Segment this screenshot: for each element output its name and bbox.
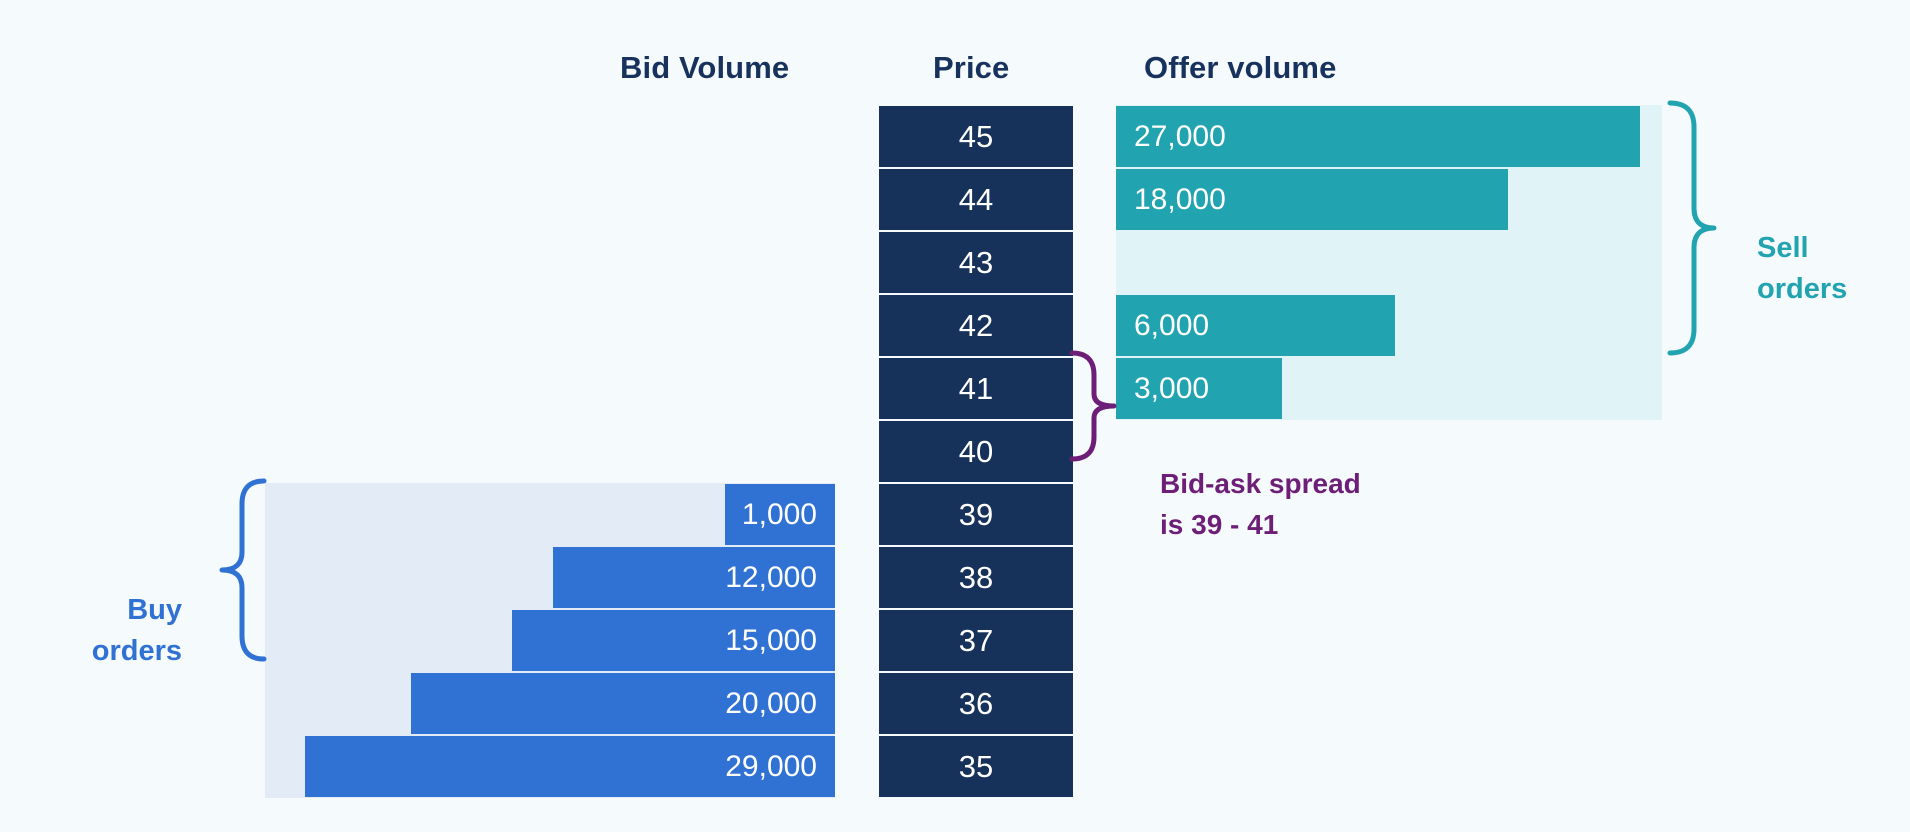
buy-orders-label: Buy orders [52,590,182,672]
sell-orders-brace-icon [1668,100,1718,356]
column-header-price: Price [933,50,1009,86]
order-book-row: 413,000 [0,357,1910,420]
price-cell: 39 [879,484,1073,545]
price-cell: 35 [879,736,1073,797]
buy-orders-brace-icon [218,478,268,662]
bid-volume-bar: 1,000 [725,484,835,545]
column-header-bid-volume: Bid Volume [620,50,789,86]
order-book-row: 12,00038 [0,546,1910,609]
order-book-diagram: Bid Volume Price Offer volume 4527,00044… [0,0,1910,832]
order-book-row: 4418,000 [0,168,1910,231]
order-book-row: 15,00037 [0,609,1910,672]
order-book-row: 426,000 [0,294,1910,357]
offer-volume-bar: 6,000 [1116,295,1395,356]
bid-ask-spread-label: Bid-ask spread is 39 - 41 [1160,463,1361,546]
bid-volume-bar: 15,000 [512,610,835,671]
price-cell: 43 [879,232,1073,293]
order-book-row: 40 [0,420,1910,483]
bid-ask-spread-brace-icon [1070,350,1130,462]
sell-orders-label: Sell orders [1757,228,1847,310]
price-cell: 41 [879,358,1073,419]
order-book-row: 4527,000 [0,105,1910,168]
order-book-row: 43 [0,231,1910,294]
order-book-rows: 4527,0004418,00043426,000413,000401,0003… [0,105,1910,799]
offer-volume-bar: 27,000 [1116,106,1640,167]
order-book-row: 29,00035 [0,735,1910,798]
price-cell: 37 [879,610,1073,671]
offer-volume-track [1116,231,1662,294]
order-book-row: 1,00039 [0,483,1910,546]
bid-volume-bar: 20,000 [411,673,835,734]
offer-volume-bar: 18,000 [1116,169,1508,230]
price-cell: 42 [879,295,1073,356]
order-book-row: 20,00036 [0,672,1910,735]
price-cell: 44 [879,169,1073,230]
price-cell: 40 [879,421,1073,482]
price-cell: 36 [879,673,1073,734]
bid-volume-bar: 29,000 [305,736,835,797]
price-cell: 45 [879,106,1073,167]
bid-volume-bar: 12,000 [553,547,835,608]
column-header-offer-volume: Offer volume [1144,50,1336,86]
offer-volume-bar: 3,000 [1116,358,1282,419]
price-cell: 38 [879,547,1073,608]
